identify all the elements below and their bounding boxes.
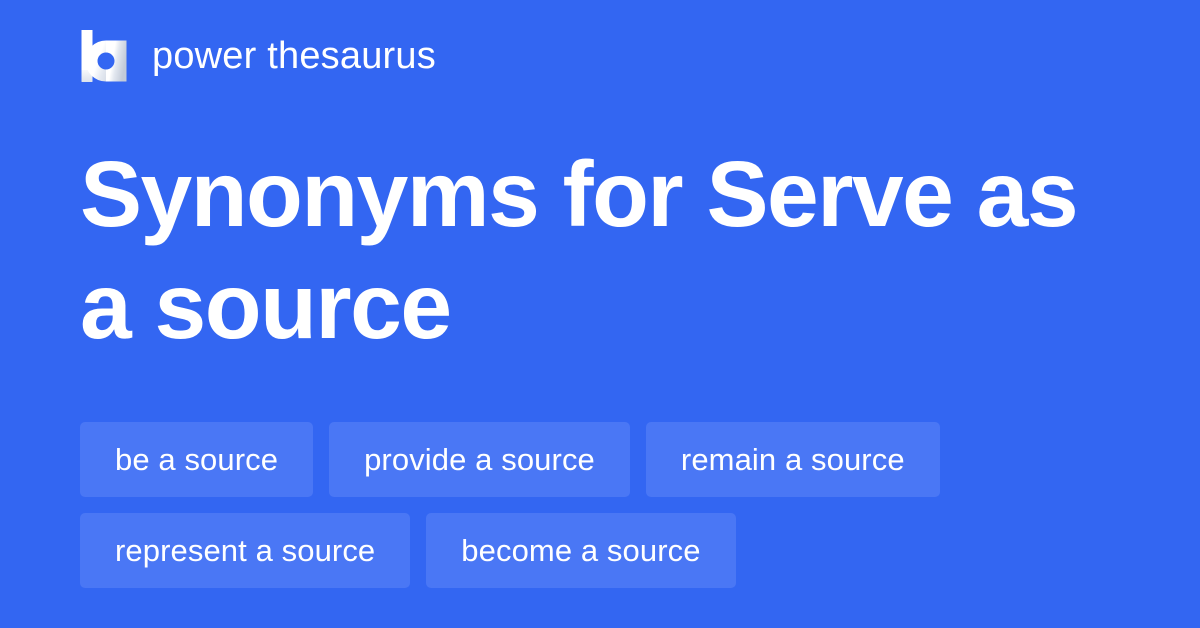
synonym-chip[interactable]: be a source: [80, 422, 313, 497]
page-title: Synonyms for Serve as a source: [80, 138, 1080, 362]
power-thesaurus-b-logo-icon: [80, 30, 130, 82]
synonym-chip[interactable]: remain a source: [646, 422, 940, 497]
synonym-chip[interactable]: provide a source: [329, 422, 630, 497]
synonym-chip-list: be a source provide a source remain a so…: [80, 422, 1120, 588]
synonym-chip[interactable]: become a source: [426, 513, 735, 588]
social-preview-card: power thesaurus Synonyms for Serve as a …: [0, 0, 1200, 628]
synonym-chip[interactable]: represent a source: [80, 513, 410, 588]
brand-header[interactable]: power thesaurus: [80, 28, 436, 84]
brand-name: power thesaurus: [152, 37, 436, 75]
